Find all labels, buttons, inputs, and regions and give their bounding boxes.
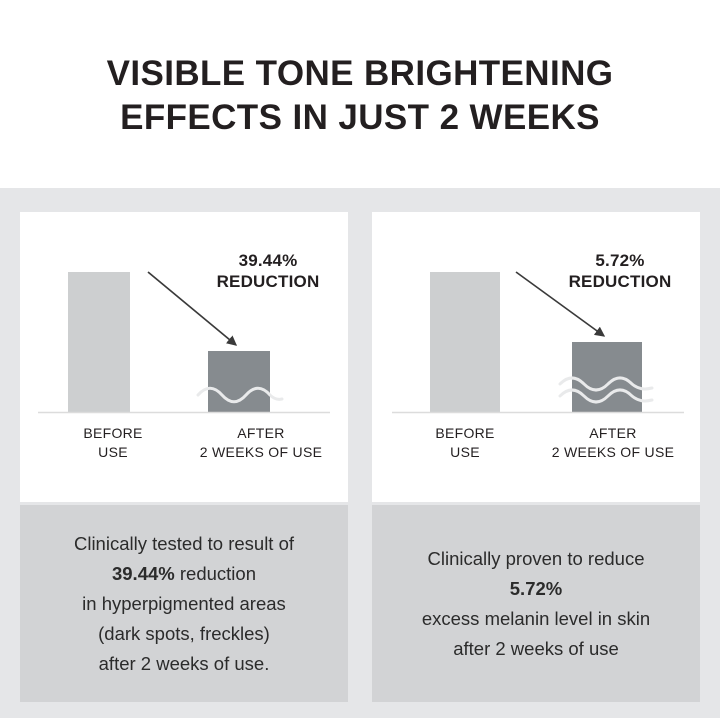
axis-label-after-line-2: 2 WEEKS OF USE [178,443,344,462]
reduction-percent: 39.44% [198,250,338,271]
caption-line-5: after 2 weeks of use. [74,649,294,679]
page-title: VISIBLE TONE BRIGHTENING EFFECTS IN JUST… [107,48,614,140]
caption-highlight-value: 5.72% [510,578,562,599]
caption-card-melanin: Clinically proven to reduce 5.72% excess… [372,505,700,702]
axis-label-before: BEFORE USE [390,424,540,462]
caption-card-hyperpigmentation: Clinically tested to result of 39.44% re… [20,505,348,702]
axis-label-before-line-1: BEFORE [390,424,540,443]
reduction-word: REDUCTION [198,271,338,292]
caption-line-1: Clinically proven to reduce [422,544,650,574]
bar-before [68,272,130,412]
axis-label-before: BEFORE USE [38,424,188,462]
bar-chart-hyperpigmentation: 39.44% REDUCTION BEFORE USE AFTER 2 WEEK… [20,212,348,502]
axis-label-after-line-1: AFTER [178,424,344,443]
panel-melanin: 5.72% REDUCTION BEFORE USE AFTER 2 WEEKS… [372,212,700,702]
axis-label-after: AFTER 2 WEEKS OF USE [530,424,696,462]
reduction-callout-hyperpigmentation: 39.44% REDUCTION [198,250,338,292]
caption-line-2: 5.72% [422,574,650,604]
header-band: VISIBLE TONE BRIGHTENING EFFECTS IN JUST… [0,0,720,188]
bar-before [430,272,500,412]
axis-label-after: AFTER 2 WEEKS OF USE [178,424,344,462]
axis-label-before-line-2: USE [390,443,540,462]
caption-line-4: after 2 weeks of use [422,634,650,664]
reduction-word: REDUCTION [550,271,690,292]
page-title-line-2: EFFECTS IN JUST 2 WEEKS [107,96,614,140]
axis-label-after-line-2: 2 WEEKS OF USE [530,443,696,462]
panels-container: 39.44% REDUCTION BEFORE USE AFTER 2 WEEK… [0,188,720,718]
caption-text-melanin: Clinically proven to reduce 5.72% excess… [412,544,660,664]
axis-labels-hyperpigmentation: BEFORE USE AFTER 2 WEEKS OF USE [20,424,348,484]
axis-labels-melanin: BEFORE USE AFTER 2 WEEKS OF USE [372,424,700,484]
axis-label-before-line-1: BEFORE [38,424,188,443]
axis-label-before-line-2: USE [38,443,188,462]
caption-line-4: (dark spots, freckles) [74,619,294,649]
bar-chart-melanin: 5.72% REDUCTION BEFORE USE AFTER 2 WEEKS… [372,212,700,502]
caption-line-1: Clinically tested to result of [74,529,294,559]
reduction-percent: 5.72% [550,250,690,271]
panel-hyperpigmentation: 39.44% REDUCTION BEFORE USE AFTER 2 WEEK… [20,212,348,702]
caption-line-3: excess melanin level in skin [422,604,650,634]
caption-line-3: in hyperpigmented areas [74,589,294,619]
axis-label-after-line-1: AFTER [530,424,696,443]
caption-highlight-value: 39.44% [112,563,175,584]
bar-after [572,342,642,412]
caption-text-hyperpigmentation: Clinically tested to result of 39.44% re… [64,529,304,679]
infographic-page: VISIBLE TONE BRIGHTENING EFFECTS IN JUST… [0,0,720,718]
chart-card-hyperpigmentation: 39.44% REDUCTION BEFORE USE AFTER 2 WEEK… [20,212,348,502]
bar-after [208,351,270,412]
caption-line-2-rest: reduction [175,563,256,584]
caption-line-2: 39.44% reduction [74,559,294,589]
chart-card-melanin: 5.72% REDUCTION BEFORE USE AFTER 2 WEEKS… [372,212,700,502]
reduction-callout-melanin: 5.72% REDUCTION [550,250,690,292]
page-title-line-1: VISIBLE TONE BRIGHTENING [107,52,614,96]
